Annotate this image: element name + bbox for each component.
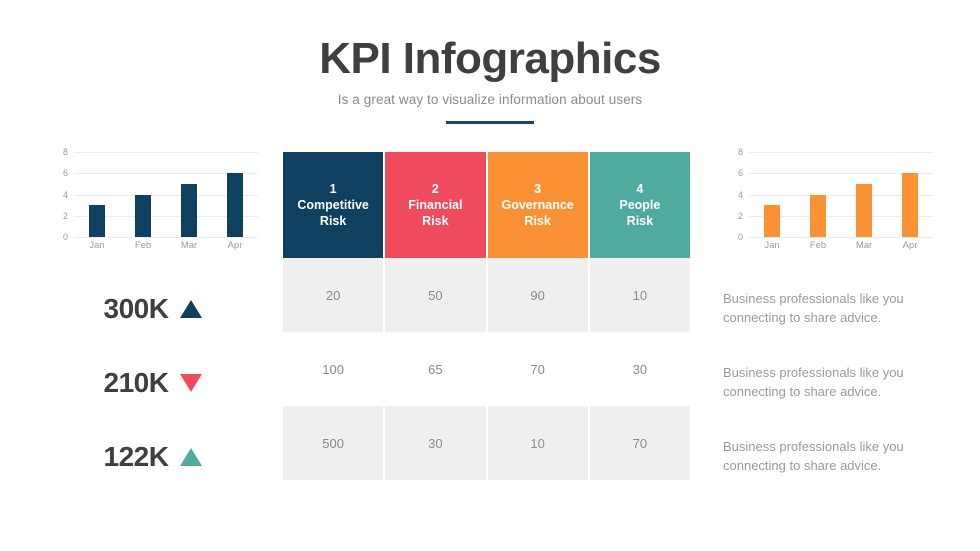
chart-bar [135,195,151,238]
page-title: KPI Infographics [0,34,980,83]
table-cell: 70 [488,332,588,406]
chart-y-tick-label: 6 [723,168,743,178]
chart-bar [181,184,197,237]
note-row: Business professionals like you connecti… [723,272,935,346]
chart-y-tick-label: 2 [48,211,68,221]
risk-table-body: 20509010100657030500301070 [283,258,690,480]
chart-x-tick-label: Mar [842,240,886,251]
chart-bar-column [888,152,932,237]
trend-up-icon [180,448,202,466]
risk-column-title-line1: Financial [408,197,462,213]
risk-column-title-line1: Competitive [297,197,369,213]
chart-bar-column [213,152,257,237]
table-cell: 50 [385,258,485,332]
chart-x-tick-label: Apr [888,240,932,251]
note-row: Business professionals like you connecti… [723,346,935,420]
note-text: Business professionals like you connecti… [723,364,935,402]
chart-x-tick-label: Apr [213,240,257,251]
table-cell: 70 [590,406,690,480]
kpi-row: 122K [48,420,258,494]
table-cell: 30 [385,406,485,480]
kpi-value: 300K [104,293,169,325]
chart-gridline [74,237,258,238]
risk-column-number: 1 [330,181,337,197]
kpi-row: 300K [48,272,258,346]
table-row: 100657030 [283,332,690,406]
chart-y-tick-label: 8 [723,147,743,157]
kpi-value: 210K [104,367,169,399]
risk-table-header-cell[interactable]: 4PeopleRisk [590,152,690,258]
right-chart-x-labels: JanFebMarApr [749,240,933,251]
chart-bar [902,173,918,237]
chart-y-tick-label: 4 [48,190,68,200]
left-chart-x-labels: JanFebMarApr [74,240,258,251]
note-text: Business professionals like you connecti… [723,290,935,328]
chart-bar-column [75,152,119,237]
note-text: Business professionals like you connecti… [723,438,935,476]
trend-up-icon [180,300,202,318]
left-chart-bars [74,152,258,237]
risk-column-title-line1: Governance [501,197,573,213]
page-subtitle: Is a great way to visualize information … [0,92,980,107]
chart-bar [764,205,780,237]
table-cell: 90 [488,258,588,332]
risk-column-title-line1: People [619,197,660,213]
chart-bar [810,195,826,238]
risk-table: 1CompetitiveRisk2FinancialRisk3Governanc… [283,152,690,480]
table-cell: 10 [590,258,690,332]
kpi-metric-list: 300K210K122K [48,272,258,494]
chart-gridline [749,237,933,238]
slide-header: KPI Infographics Is a great way to visua… [0,34,980,124]
table-row: 20509010 [283,258,690,332]
chart-bar-column [121,152,165,237]
table-cell: 10 [488,406,588,480]
chart-x-tick-label: Feb [796,240,840,251]
slide-canvas: KPI Infographics Is a great way to visua… [0,0,980,551]
chart-y-tick-label: 0 [48,232,68,242]
right-chart-bars [749,152,933,237]
chart-bar [89,205,105,237]
table-cell: 100 [283,332,383,406]
chart-y-tick-label: 4 [723,190,743,200]
note-list: Business professionals like you connecti… [723,272,935,494]
left-bar-chart: 86420 JanFebMarApr [48,152,258,262]
risk-table-header-cell[interactable]: 1CompetitiveRisk [283,152,383,258]
chart-y-tick-label: 0 [723,232,743,242]
chart-bar-column [842,152,886,237]
chart-x-tick-label: Jan [75,240,119,251]
risk-column-number: 4 [636,181,643,197]
title-underline-accent [446,121,534,124]
risk-column-title-line2: Risk [524,213,550,229]
chart-y-tick-label: 2 [723,211,743,221]
chart-x-tick-label: Jan [750,240,794,251]
risk-table-header-cell[interactable]: 2FinancialRisk [385,152,485,258]
table-cell: 30 [590,332,690,406]
right-bar-chart: 86420 JanFebMarApr [723,152,933,262]
chart-bar-column [750,152,794,237]
chart-bar [227,173,243,237]
table-cell: 500 [283,406,383,480]
table-cell: 20 [283,258,383,332]
chart-x-tick-label: Feb [121,240,165,251]
risk-column-title-line2: Risk [422,213,448,229]
chart-bar-column [796,152,840,237]
risk-column-number: 3 [534,181,541,197]
chart-y-tick-label: 8 [48,147,68,157]
table-cell: 65 [385,332,485,406]
risk-table-header-row: 1CompetitiveRisk2FinancialRisk3Governanc… [283,152,690,258]
chart-bar [856,184,872,237]
chart-y-tick-label: 6 [48,168,68,178]
trend-down-icon [180,374,202,392]
risk-table-header-cell[interactable]: 3GovernanceRisk [488,152,588,258]
kpi-row: 210K [48,346,258,420]
chart-x-tick-label: Mar [167,240,211,251]
chart-bar-column [167,152,211,237]
risk-column-title-line2: Risk [627,213,653,229]
table-row: 500301070 [283,406,690,480]
risk-column-number: 2 [432,181,439,197]
note-row: Business professionals like you connecti… [723,420,935,494]
kpi-value: 122K [104,441,169,473]
risk-column-title-line2: Risk [320,213,346,229]
